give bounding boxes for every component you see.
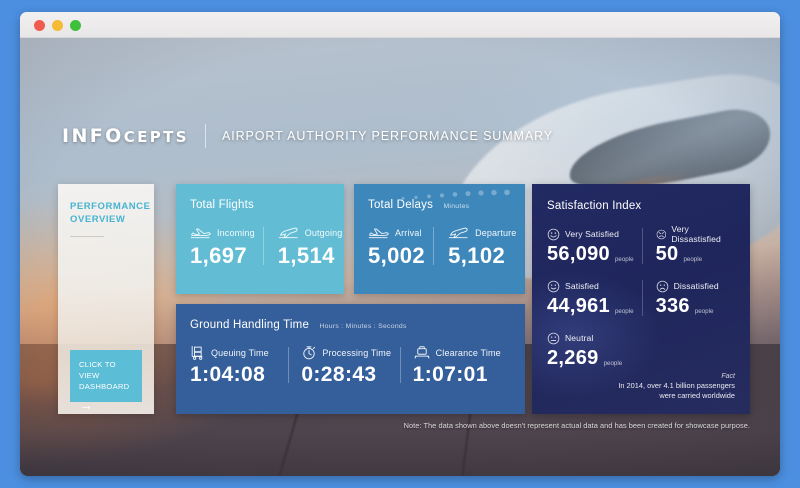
card-ground-handling-title-text: Ground Handling Time <box>190 319 309 331</box>
fact-text: In 2014, over 4.1 billion passengers wer… <box>607 381 735 401</box>
satisfaction-dissatisfied-head: Dissatisfied <box>656 279 729 293</box>
metric-incoming-head: Incoming <box>190 225 255 240</box>
face-happy-icon <box>547 280 560 293</box>
satisfaction-dissatisfied: Dissatisfied 336 people <box>640 279 735 318</box>
card-total-flights[interactable]: Total Flights Incoming 1,697 <box>176 184 344 294</box>
card-total-flights-title: Total Flights <box>190 199 330 211</box>
card-ground-handling-time[interactable]: Ground Handling Time Hours : Minutes : S… <box>176 304 525 414</box>
metric-outgoing: Outgoing 1,514 <box>263 225 344 269</box>
satisfaction-dissatisfied-label: Dissatisfied <box>674 281 719 291</box>
satisfaction-index-title: Satisfaction Index <box>547 200 735 212</box>
satisfaction-neutral-valrow: 2,269 people <box>547 347 635 370</box>
face-sad-icon <box>656 280 669 293</box>
plane-landing-icon <box>190 226 212 239</box>
satisfaction-satisfied-head: Satisfied <box>547 279 634 293</box>
metric-processing-time-head: Processing Time <box>301 345 391 360</box>
metric-departure-value: 5,102 <box>448 243 516 269</box>
metric-queuing-time-label: Queuing Time <box>211 348 269 358</box>
metric-arrival-label: Arrival <box>395 228 422 238</box>
plane-landing-icon <box>368 226 390 239</box>
panel-satisfaction-index[interactable]: Satisfaction Index Very <box>532 184 750 414</box>
metric-processing-time-label: Processing Time <box>322 348 391 358</box>
infocepts-logo: INFOCEPTS <box>62 125 189 147</box>
logo-text-info: INFO <box>62 125 124 147</box>
metric-clearance-time-label: Clearance Time <box>436 348 501 358</box>
satisfaction-empty-cell <box>641 331 735 370</box>
dashboard-header: INFOCEPTS AIRPORT AUTHORITY PERFORMANCE … <box>62 124 553 148</box>
card-total-delays-metrics: Arrival 5,002 Departure 5,102 <box>368 225 511 269</box>
face-very-sad-icon <box>656 228 667 241</box>
satisfaction-very-satisfied-unit: people <box>615 256 634 266</box>
satisfaction-very-dissatisfied-value: 50 <box>656 243 679 266</box>
metric-departure: Departure 5,102 <box>433 225 524 269</box>
metric-queuing-time-value: 1:04:08 <box>190 363 280 387</box>
window-titlebar[interactable] <box>20 12 780 38</box>
metric-outgoing-head: Outgoing <box>278 225 343 240</box>
metric-arrival: Arrival 5,002 <box>368 225 433 269</box>
logo-text-cepts: CEPTS <box>124 128 189 146</box>
satisfaction-very-dissatisfied-label: Very Dissastisfied <box>671 224 729 244</box>
satisfaction-very-dissatisfied-unit: people <box>683 256 702 266</box>
face-very-happy-icon <box>547 228 560 241</box>
satisfaction-very-dissatisfied-valrow: 50 people <box>656 243 729 266</box>
overview-divider <box>70 236 104 237</box>
satisfaction-neutral: Neutral 2,269 people <box>547 331 641 370</box>
dashboard-page: INFOCEPTS AIRPORT AUTHORITY PERFORMANCE … <box>20 38 780 476</box>
satisfaction-neutral-head: Neutral <box>547 331 635 345</box>
close-window-button[interactable] <box>34 20 45 31</box>
metric-processing-time-value: 0:28:43 <box>301 363 391 387</box>
satisfaction-neutral-label: Neutral <box>565 333 593 343</box>
metric-arrival-head: Arrival <box>368 225 425 240</box>
satisfaction-row: Satisfied 44,961 people <box>547 279 735 318</box>
satisfaction-satisfied-unit: people <box>615 308 634 318</box>
minimize-window-button[interactable] <box>52 20 63 31</box>
card-total-flights-metrics: Incoming 1,697 Outgoing 1,514 <box>190 225 330 269</box>
metric-queuing-time: Queuing Time 1:04:08 <box>190 345 288 387</box>
satisfaction-very-satisfied: Very Satisfied 56,090 people <box>547 227 640 266</box>
satisfaction-satisfied-label: Satisfied <box>565 281 599 291</box>
overview-title: PERFORMANCE OVERVIEW <box>70 200 142 227</box>
satisfaction-row: Neutral 2,269 people <box>547 331 735 370</box>
dashboard-grid: PERFORMANCE OVERVIEW CLICK TO VIEW DASHB… <box>58 184 750 414</box>
satisfaction-dissatisfied-unit: people <box>695 308 714 318</box>
browser-window: INFOCEPTS AIRPORT AUTHORITY PERFORMANCE … <box>20 12 780 476</box>
metric-incoming: Incoming 1,697 <box>190 225 263 269</box>
suitcase-scanner-icon <box>413 345 431 360</box>
satisfaction-row: Very Satisfied 56,090 people <box>547 227 735 266</box>
card-total-delays[interactable]: Total Delays Minutes Arrival 5,002 <box>354 184 525 294</box>
satisfaction-satisfied-value: 44,961 <box>547 295 610 318</box>
stopwatch-icon <box>301 345 317 360</box>
luggage-cart-icon <box>190 345 206 360</box>
metric-incoming-label: Incoming <box>217 228 255 238</box>
card-ground-handling-title: Ground Handling Time Hours : Minutes : S… <box>190 319 511 331</box>
satisfaction-rows: Very Satisfied 56,090 people <box>547 227 735 370</box>
metric-arrival-value: 5,002 <box>368 243 425 269</box>
metric-queuing-time-head: Queuing Time <box>190 345 280 360</box>
card-ground-handling-unit: Hours : Minutes : Seconds <box>319 323 406 330</box>
metric-departure-head: Departure <box>448 225 516 240</box>
metric-outgoing-label: Outgoing <box>305 228 343 238</box>
satisfaction-very-dissatisfied: Very Dissastisfied 50 people <box>640 227 735 266</box>
metric-incoming-value: 1,697 <box>190 243 255 269</box>
face-neutral-icon <box>547 332 560 345</box>
fact-box: Fact In 2014, over 4.1 billion passenger… <box>607 373 735 401</box>
satisfaction-very-satisfied-label: Very Satisfied <box>565 229 619 239</box>
footer-disclaimer-note: Note: The data shown above doesn't repre… <box>404 421 750 430</box>
metric-clearance-time: Clearance Time 1:07:01 <box>400 345 511 387</box>
arrow-right-icon: → <box>79 398 134 412</box>
satisfaction-neutral-unit: people <box>604 360 623 370</box>
satisfaction-very-satisfied-head: Very Satisfied <box>547 227 634 241</box>
metric-processing-time: Processing Time 0:28:43 <box>288 345 399 387</box>
metric-clearance-time-head: Clearance Time <box>413 345 503 360</box>
dotted-arc-decoration <box>399 189 519 201</box>
satisfaction-dissatisfied-value: 336 <box>656 295 690 318</box>
header-divider <box>205 124 206 148</box>
satisfaction-very-satisfied-value: 56,090 <box>547 243 610 266</box>
satisfaction-satisfied: Satisfied 44,961 people <box>547 279 640 318</box>
fact-label: Fact <box>607 373 735 380</box>
view-dashboard-button[interactable]: CLICK TO VIEW DASHBOARD → <box>70 350 142 402</box>
satisfaction-very-satisfied-valrow: 56,090 people <box>547 243 634 266</box>
metric-clearance-time-value: 1:07:01 <box>413 363 503 387</box>
performance-overview-panel: PERFORMANCE OVERVIEW CLICK TO VIEW DASHB… <box>58 184 154 414</box>
satisfaction-very-dissatisfied-head: Very Dissastisfied <box>656 227 729 241</box>
plane-takeoff-icon <box>448 226 470 239</box>
page-title: AIRPORT AUTHORITY PERFORMANCE SUMMARY <box>222 129 553 143</box>
metric-departure-label: Departure <box>475 228 516 238</box>
satisfaction-neutral-value: 2,269 <box>547 347 599 370</box>
card-total-delays-unit: Minutes <box>443 203 469 210</box>
metric-outgoing-value: 1,514 <box>278 243 343 269</box>
maximize-window-button[interactable] <box>70 20 81 31</box>
satisfaction-dissatisfied-valrow: 336 people <box>656 295 729 318</box>
view-dashboard-label: CLICK TO VIEW DASHBOARD <box>79 359 134 392</box>
satisfaction-satisfied-valrow: 44,961 people <box>547 295 634 318</box>
plane-takeoff-icon <box>278 226 300 239</box>
card-ground-handling-metrics: Queuing Time 1:04:08 Process <box>190 345 511 387</box>
